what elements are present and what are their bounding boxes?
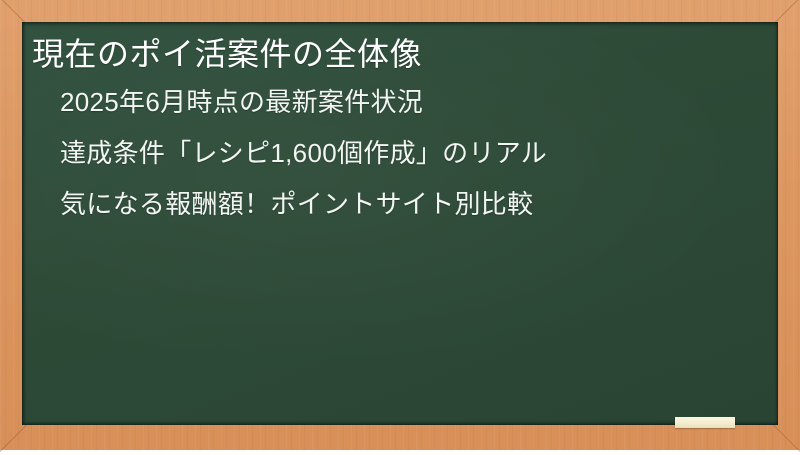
chalk-stick-icon	[675, 417, 735, 428]
blackboard-frame: 現在のポイ活案件の全体像 2025年6月時点の最新案件状況 達成条件「レシピ1,…	[0, 0, 800, 450]
chalkboard-surface: 現在のポイ活案件の全体像 2025年6月時点の最新案件状況 達成条件「レシピ1,…	[22, 22, 778, 425]
board-line-1: 2025年6月時点の最新案件状況	[60, 89, 760, 115]
board-bullet-list: 2025年6月時点の最新案件状況 達成条件「レシピ1,600個作成」のリアル 気…	[32, 89, 760, 217]
board-content: 現在のポイ活案件の全体像 2025年6月時点の最新案件状況 達成条件「レシピ1,…	[22, 22, 778, 217]
board-title: 現在のポイ活案件の全体像	[32, 34, 760, 75]
board-line-2: 達成条件「レシピ1,600個作成」のリアル	[60, 140, 760, 166]
board-line-3: 気になる報酬額！ポイントサイト別比較	[60, 191, 760, 217]
